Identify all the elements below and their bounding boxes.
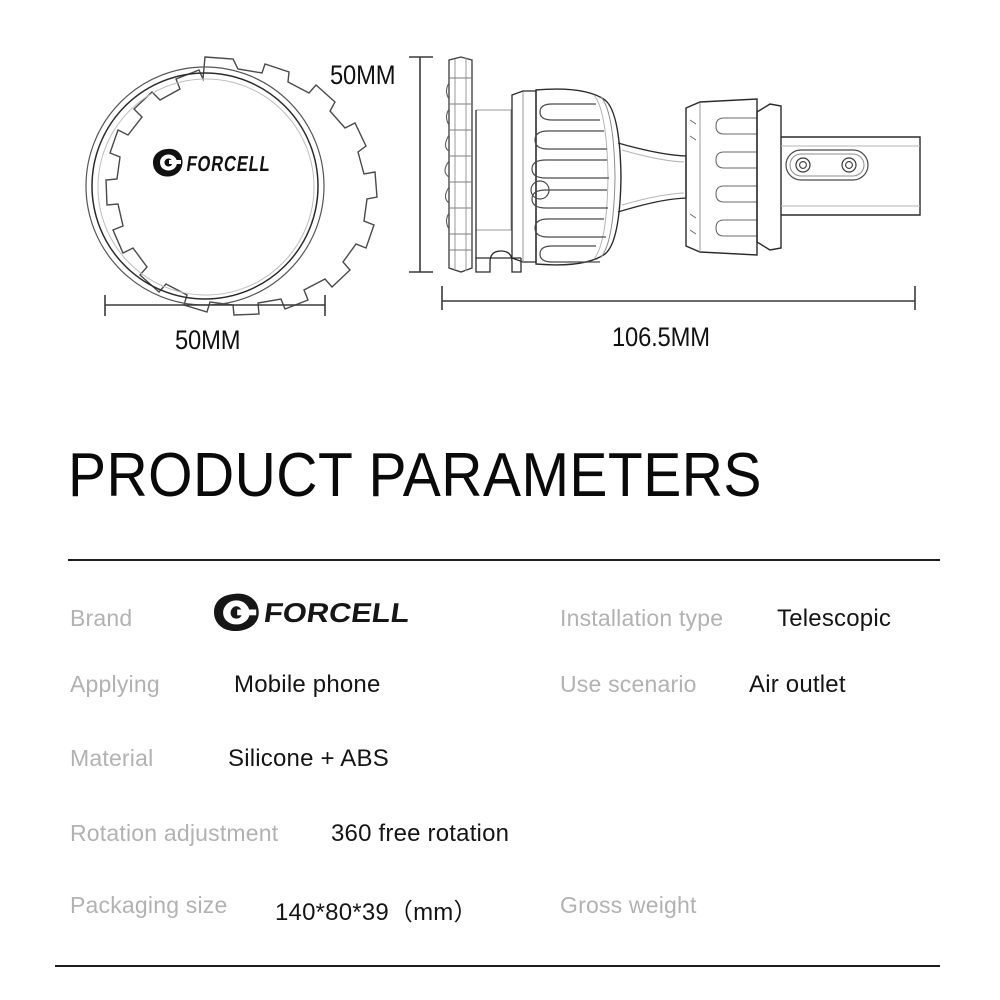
param-label-material: Material [70, 745, 153, 772]
param-label-use-scenario: Use scenario [560, 671, 697, 698]
param-value-brand-logo: FORCELL [213, 593, 420, 631]
svg-text:FORCELL: FORCELL [262, 597, 412, 628]
param-value-use-scenario: Air outlet [749, 671, 846, 699]
param-value-applying: Mobile phone [234, 671, 381, 699]
bottom-divider [55, 965, 940, 967]
forcell-logo-large: FORCELL [213, 593, 420, 631]
param-label-installation-type: Installation type [560, 605, 723, 632]
param-label-packaging-size: Packaging size [70, 892, 228, 919]
param-value-installation-type: Telescopic [777, 605, 891, 633]
param-label-rotation-adjustment: Rotation adjustment [70, 820, 278, 847]
param-value-packaging-size: 140*80*39（mm） [275, 892, 478, 927]
param-label-brand: Brand [70, 605, 132, 632]
param-label-applying: Applying [70, 671, 160, 698]
param-value-rotation-adjustment: 360 free rotation [331, 820, 509, 848]
product-parameters-table: Brand FORCELL Installation type Telescop… [0, 0, 1000, 1000]
param-value-material: Silicone + ABS [228, 745, 389, 773]
param-label-gross-weight: Gross weight [560, 892, 697, 919]
